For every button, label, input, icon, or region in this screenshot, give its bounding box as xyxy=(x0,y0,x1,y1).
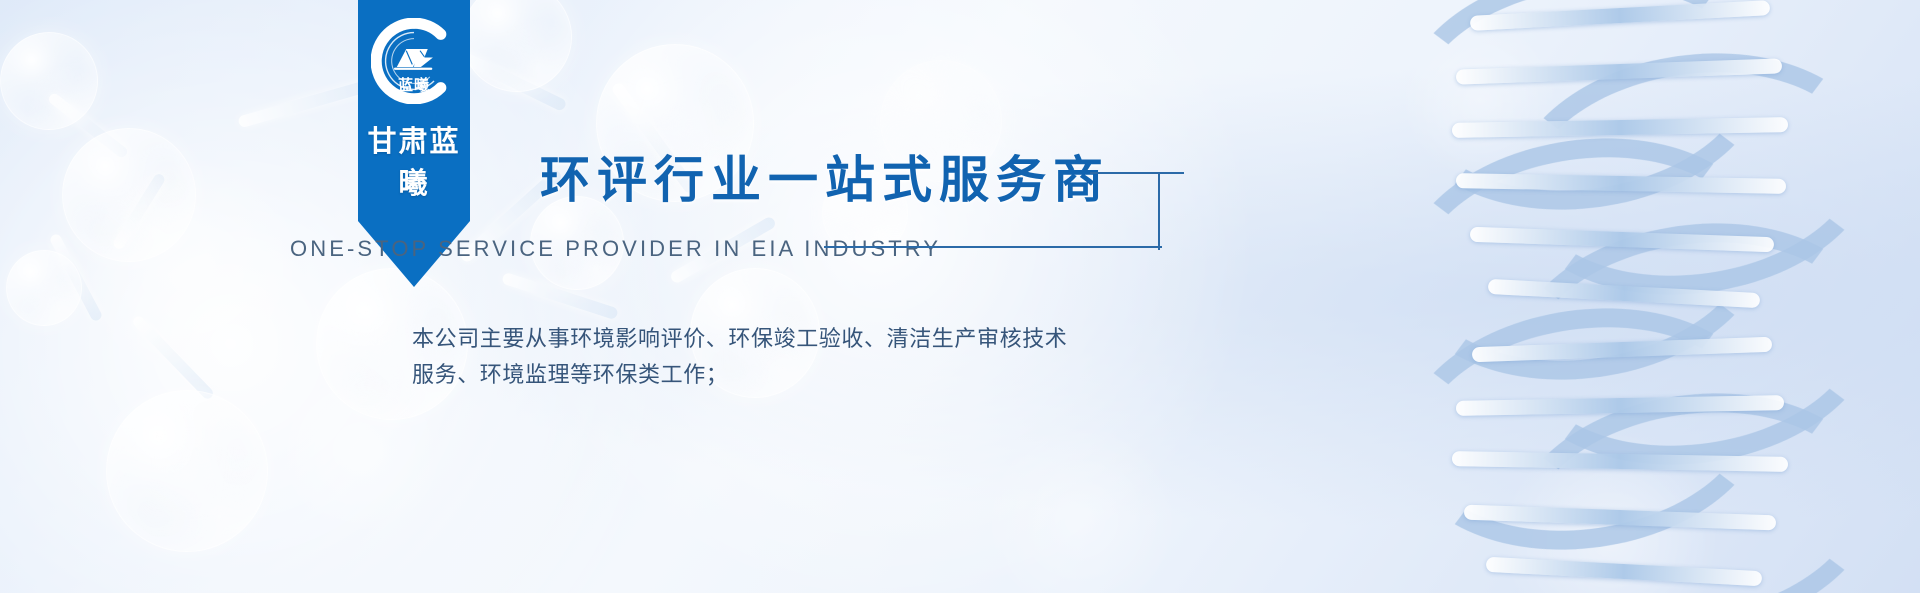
headline: 环评行业一站式服务商 xyxy=(540,140,1110,212)
body-line-2: 服务、环境监理等环保类工作； xyxy=(412,358,1192,394)
background-artwork xyxy=(0,0,1920,593)
dna-double-helix-graphic xyxy=(1360,0,1920,593)
headline-bracket-top xyxy=(1090,172,1162,174)
body-line-1: 本公司主要从事环境影响评价、环保竣工验收、清洁生产审核技术 xyxy=(412,322,1192,358)
body-paragraph: 本公司主要从事环境影响评价、环保竣工验收、清洁生产审核技术 服务、环境监理等环保… xyxy=(412,322,1192,394)
headline-bracket xyxy=(1158,172,1184,250)
logo-text: 蓝曦 xyxy=(371,74,457,95)
lanxi-circle-emblem-logo: 蓝曦 xyxy=(371,18,457,104)
promo-banner: 蓝曦 甘肃蓝曦 环评行业一站式服务商 ONE-STOP SERVICE PROV… xyxy=(0,0,1920,593)
headline-connector-line xyxy=(824,246,1162,248)
subtitle-english: ONE-STOP SERVICE PROVIDER IN EIA INDUSTR… xyxy=(290,236,941,262)
company-short-name: 甘肃蓝曦 xyxy=(358,118,470,202)
